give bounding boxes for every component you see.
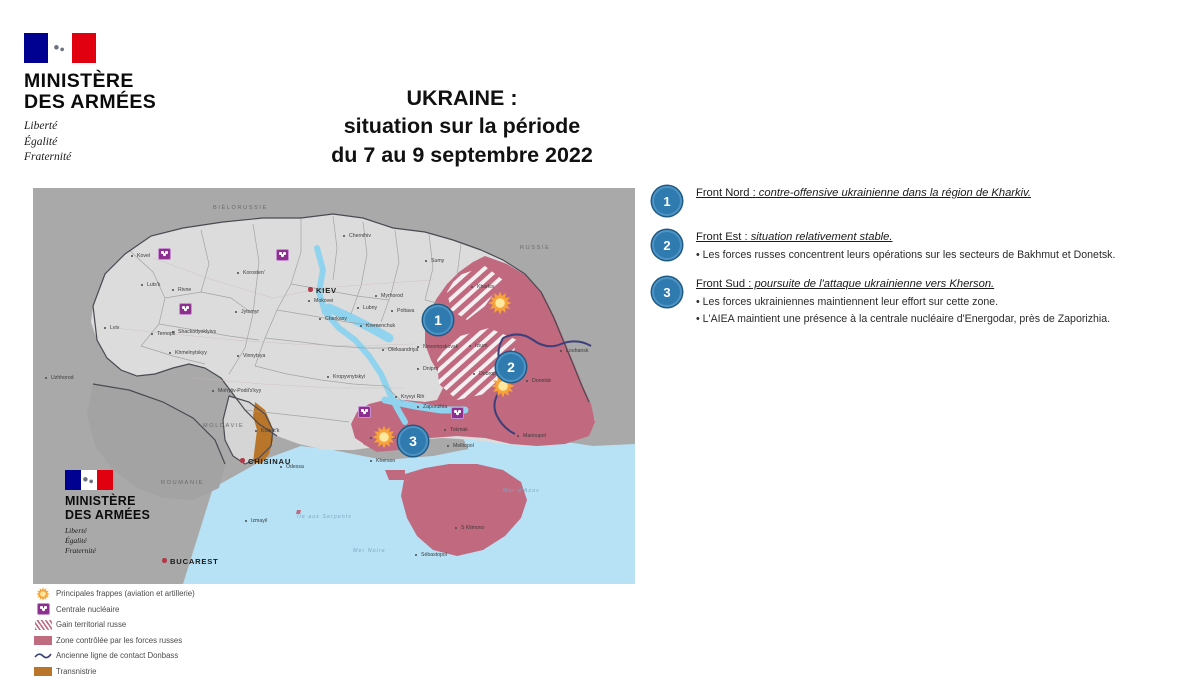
flag-blue-band (24, 33, 48, 63)
flag-white-band (48, 33, 72, 63)
title-line-3: du 7 au 9 septembre 2022 (262, 141, 662, 169)
wavy-line-icon (30, 651, 56, 660)
nuclear-plant-icon (30, 603, 56, 615)
legend-item: Gain territorial russe (30, 617, 330, 633)
point-body: Front Est : situation relativement stabl… (696, 230, 1115, 263)
brown-swatch-icon (30, 667, 56, 676)
situation-points-panel: 1Front Nord : contre-offensive ukrainien… (652, 186, 1182, 341)
republic-motto-map: Liberté Égalité Fraternité (65, 526, 180, 556)
point-body: Front Nord : contre-offensive ukrainienn… (696, 186, 1031, 216)
point-badge-1[interactable]: 1 (652, 186, 682, 216)
nuclear-plant-icon (451, 407, 464, 419)
ministry-line-2-map: DES ARMÉES (65, 509, 180, 523)
flag-white-band-map (81, 470, 97, 490)
title-line-2: situation sur la période (262, 112, 662, 140)
map-marker-2[interactable]: 2 (496, 352, 526, 382)
point-body: Front Sud : poursuite de l'attaque ukrai… (696, 277, 1110, 327)
pink-swatch-icon (30, 636, 56, 645)
legend-item-label: Ancienne ligne de contact Donbass (56, 651, 178, 660)
french-flag-icon-map (65, 470, 113, 490)
legend-item: Zone contrôlée par les forces russes (30, 633, 330, 649)
situation-point-3: 3Front Sud : poursuite de l'attaque ukra… (652, 277, 1182, 327)
legend-item: Centrale nucléaire (30, 602, 330, 618)
motto-liberte-map: Liberté (65, 526, 180, 536)
ministry-line-2: DES ARMÉES (24, 92, 214, 113)
legend-item-label: Zone contrôlée par les forces russes (56, 636, 182, 645)
nuclear-plant-icon (276, 249, 289, 261)
legend-item: Ancienne ligne de contact Donbass (30, 648, 330, 664)
nuclear-plant-icon (158, 248, 171, 260)
flag-blue-band-map (65, 470, 81, 490)
point-heading: Front Nord : contre-offensive ukrainienn… (696, 187, 1031, 199)
ministry-line-1-map: MINISTÈRE (65, 495, 180, 509)
ministry-line-1: MINISTÈRE (24, 71, 214, 92)
flag-red-band-map (97, 470, 113, 490)
strike-burst-icon (30, 587, 56, 601)
point-bullet: Les forces ukrainiennes maintiennent leu… (696, 294, 1110, 310)
point-heading: Front Sud : poursuite de l'attaque ukrai… (696, 278, 1110, 290)
nuclear-plant-icon (358, 406, 371, 418)
legend-item: Transnistrie (30, 664, 330, 680)
legend-item-label: Principales frappes (aviation et artille… (56, 589, 195, 598)
ministry-name: MINISTÈRE DES ARMÉES (24, 71, 214, 113)
legend-item-label: Gain territorial russe (56, 620, 126, 629)
point-heading-front: Front Sud : (696, 278, 751, 290)
motto-liberte: Liberté (24, 119, 214, 135)
point-badge-3[interactable]: 3 (652, 277, 682, 307)
nuclear-plant-icon (179, 303, 192, 315)
french-flag-icon (24, 33, 96, 63)
point-heading-detail: situation relativement stable. (748, 231, 893, 243)
legend-item-label: Transnistrie (56, 667, 96, 676)
ukraine-situation-map[interactable]: BIÉLORUSSIERUSSIEMOLDAVIEROUMANIEKIEVCHI… (33, 188, 635, 584)
point-heading-detail: poursuite de l'attaque ukrainienne vers … (751, 278, 994, 290)
point-bullet: L'AIEA maintient une présence à la centr… (696, 311, 1110, 327)
motto-fraternite: Fraternité (24, 150, 214, 166)
ministry-logo-header: MINISTÈRE DES ARMÉES Liberté Égalité Fra… (24, 33, 214, 166)
flag-red-band (72, 33, 96, 63)
map-marker-3[interactable]: 3 (398, 426, 428, 456)
map-legend: Principales frappes (aviation et artille… (30, 586, 330, 679)
motto-fraternite-map: Fraternité (65, 546, 180, 556)
republic-motto: Liberté Égalité Fraternité (24, 119, 214, 166)
point-badge-2[interactable]: 2 (652, 230, 682, 260)
page-title: UKRAINE : situation sur la période du 7 … (262, 84, 662, 169)
hatched-swatch-icon (30, 620, 56, 630)
title-line-1: UKRAINE : (262, 84, 662, 112)
map-marker-1[interactable]: 1 (423, 305, 453, 335)
situation-point-1: 1Front Nord : contre-offensive ukrainien… (652, 186, 1182, 216)
strike-burst-icon (488, 291, 512, 315)
ministry-name-map: MINISTÈRE DES ARMÉES (65, 495, 180, 522)
motto-egalite-map: Égalité (65, 536, 180, 546)
motto-egalite: Égalité (24, 135, 214, 151)
situation-point-2: 2Front Est : situation relativement stab… (652, 230, 1182, 263)
strike-burst-icon (372, 425, 396, 449)
legend-item-label: Centrale nucléaire (56, 605, 119, 614)
ministry-logo-map: MINISTÈRE DES ARMÉES Liberté Égalité Fra… (65, 470, 180, 556)
point-heading: Front Est : situation relativement stabl… (696, 231, 1115, 243)
point-heading-front: Front Nord : (696, 187, 756, 199)
point-bullet: Les forces russes concentrent leurs opér… (696, 247, 1115, 263)
legend-item: Principales frappes (aviation et artille… (30, 586, 330, 602)
point-heading-detail: contre-offensive ukrainienne dans la rég… (756, 187, 1031, 199)
point-heading-front: Front Est : (696, 231, 748, 243)
